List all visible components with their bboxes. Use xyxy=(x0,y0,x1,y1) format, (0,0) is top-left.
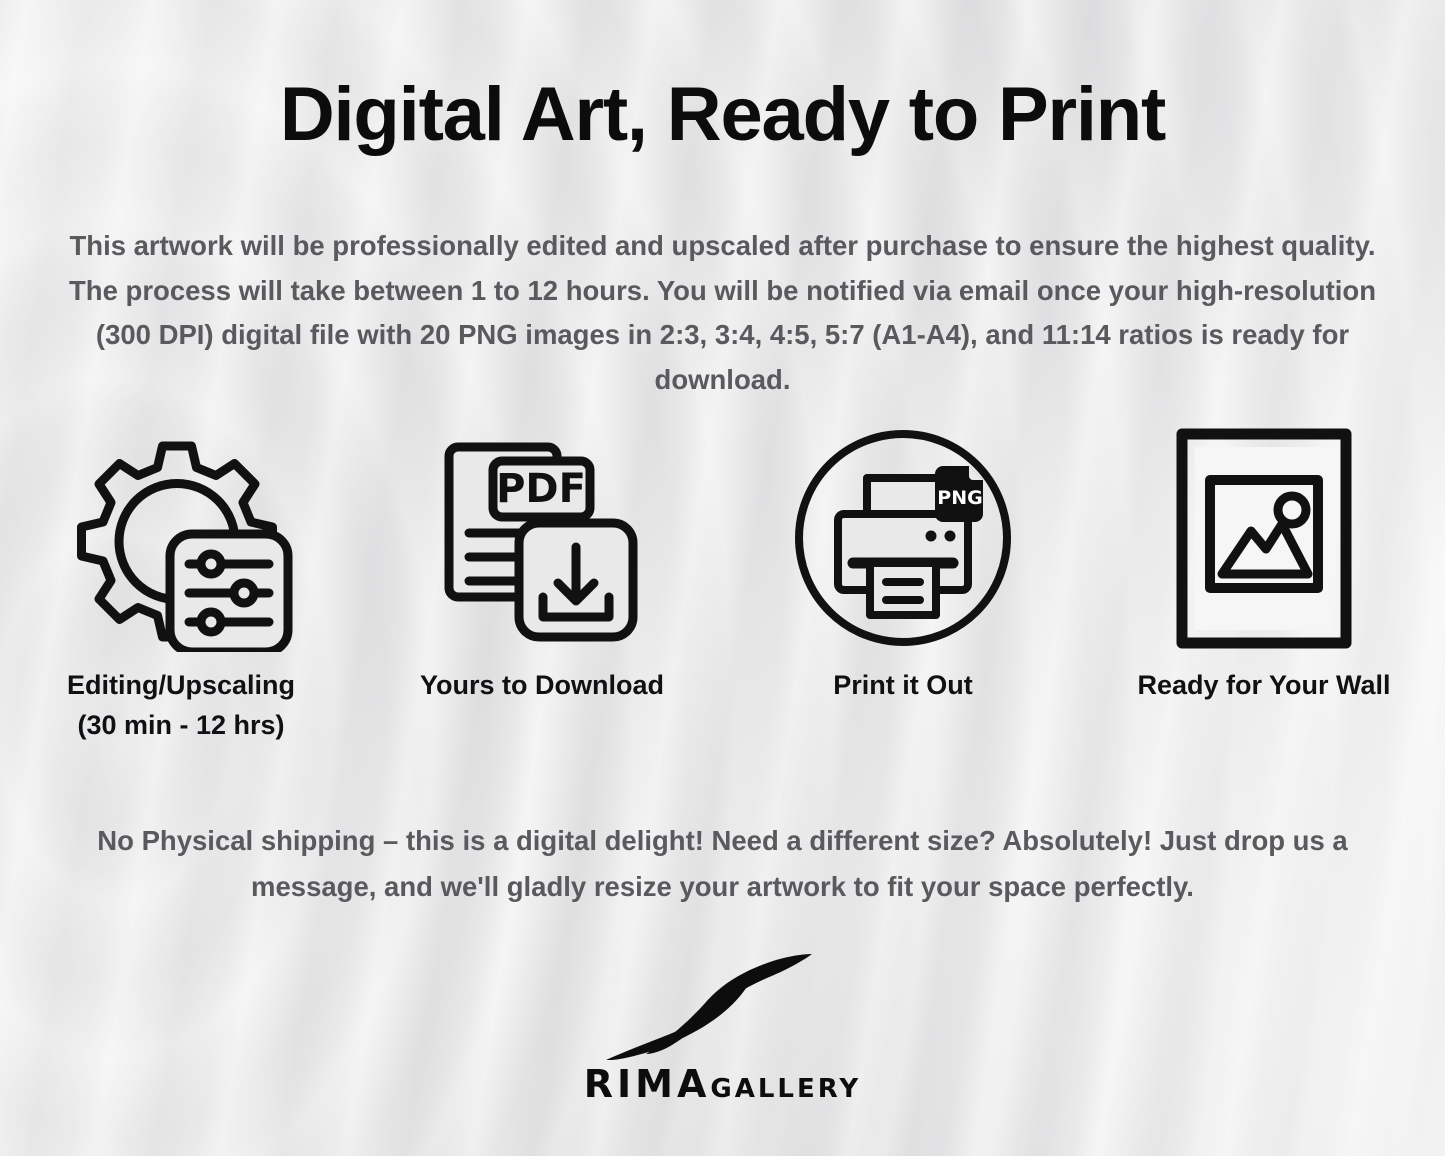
pdf-badge-label: PDF xyxy=(496,466,586,512)
brand-logo: RIMA GALLERY xyxy=(553,950,893,1106)
feature-caption: Ready for Your Wall xyxy=(1137,666,1390,706)
pdf-download-icon: PDF xyxy=(362,418,723,658)
png-badge-label: PNG xyxy=(937,487,982,509)
feature-caption: Yours to Download xyxy=(420,666,664,706)
outro-paragraph: No Physical shipping – this is a digital… xyxy=(63,818,1383,909)
framed-picture-icon xyxy=(1084,418,1445,658)
gear-sliders-icon xyxy=(1,418,362,658)
feature-row: Editing/Upscaling (30 min - 12 hrs) PDF xyxy=(0,418,1445,746)
feature-item-download: PDF Yours to Download xyxy=(362,418,723,706)
logo-name-primary: RIMA xyxy=(584,1062,711,1106)
intro-paragraph: This artwork will be professionally edit… xyxy=(58,224,1388,402)
feature-item-print: PNG Print it Out xyxy=(723,418,1084,706)
logo-wordmark: RIMA GALLERY xyxy=(584,1062,861,1106)
page-title: Digital Art, Ready to Print xyxy=(0,77,1445,153)
double-swoosh-icon xyxy=(598,950,848,1060)
infographic-page: Digital Art, Ready to Print This artwork… xyxy=(0,0,1445,1156)
feature-caption: Editing/Upscaling (30 min - 12 hrs) xyxy=(67,666,295,746)
feature-caption: Print it Out xyxy=(833,666,972,706)
printer-circle-icon: PNG xyxy=(723,418,1084,658)
feature-item-wall: Ready for Your Wall xyxy=(1084,418,1445,706)
logo-name-secondary: GALLERY xyxy=(710,1074,861,1104)
feature-item-editing: Editing/Upscaling (30 min - 12 hrs) xyxy=(1,418,362,746)
